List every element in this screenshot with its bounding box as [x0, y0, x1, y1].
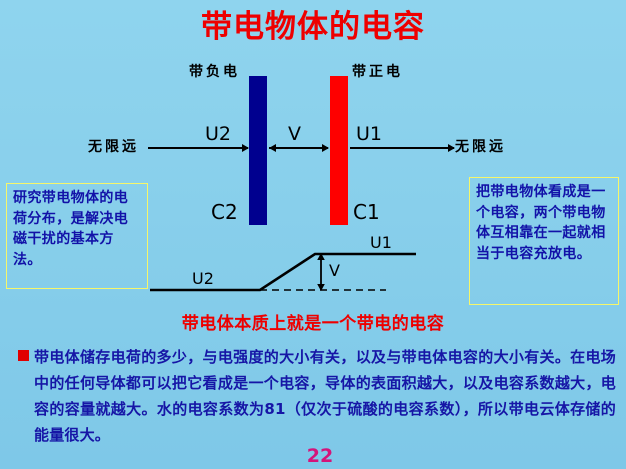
axis-line-middle	[269, 147, 328, 149]
capacitor-label-c1: C1	[353, 201, 380, 223]
bullet-square-icon	[18, 350, 29, 361]
page-number: 22	[300, 446, 340, 467]
arrow-right-icon	[322, 144, 329, 152]
axis-line-right	[350, 147, 454, 149]
potential-label-v: V	[288, 124, 301, 145]
potential-label-u1: U1	[356, 124, 382, 145]
potential-label-u2: U2	[205, 124, 231, 145]
left-infinity-label: 无限远	[88, 139, 139, 155]
slide-canvas: 带电物体的电容 带负电 带正电 无限远 无限远 U2 V U1 C2 C1 研究…	[0, 0, 626, 469]
arrow-right-icon	[242, 144, 249, 152]
positive-plate-bar	[330, 76, 348, 225]
axis-line-left	[148, 147, 248, 149]
capacitor-label-c2: C2	[211, 201, 238, 223]
waveform-label-v: V	[329, 261, 340, 280]
waveform-label-u2: U2	[192, 269, 214, 288]
page-title: 带电物体的电容	[0, 9, 626, 45]
negative-plate-bar	[249, 76, 267, 225]
negative-plate-label: 带负电	[189, 64, 240, 80]
body-paragraph: 带电体储存电荷的多少，与电强度的大小有关，以及与带电体电容的大小有关。在电场中的…	[34, 344, 616, 448]
arrow-right-icon	[448, 144, 455, 152]
emphasis-red-line: 带电体本质上就是一个带电的电容	[0, 313, 626, 335]
right-infinity-label: 无限远	[455, 139, 506, 155]
waveform-label-u1: U1	[370, 233, 392, 252]
positive-plate-label: 带正电	[352, 64, 403, 80]
callout-left: 研究带电物体的电荷分布，是解决电磁干扰的基本方法。	[6, 183, 148, 289]
callout-right: 把带电物体看成是一个电容，两个带电物体互相靠在一起就相当于电容充放电。	[469, 177, 619, 305]
voltage-step-waveform: U2 U1 V	[148, 232, 418, 298]
